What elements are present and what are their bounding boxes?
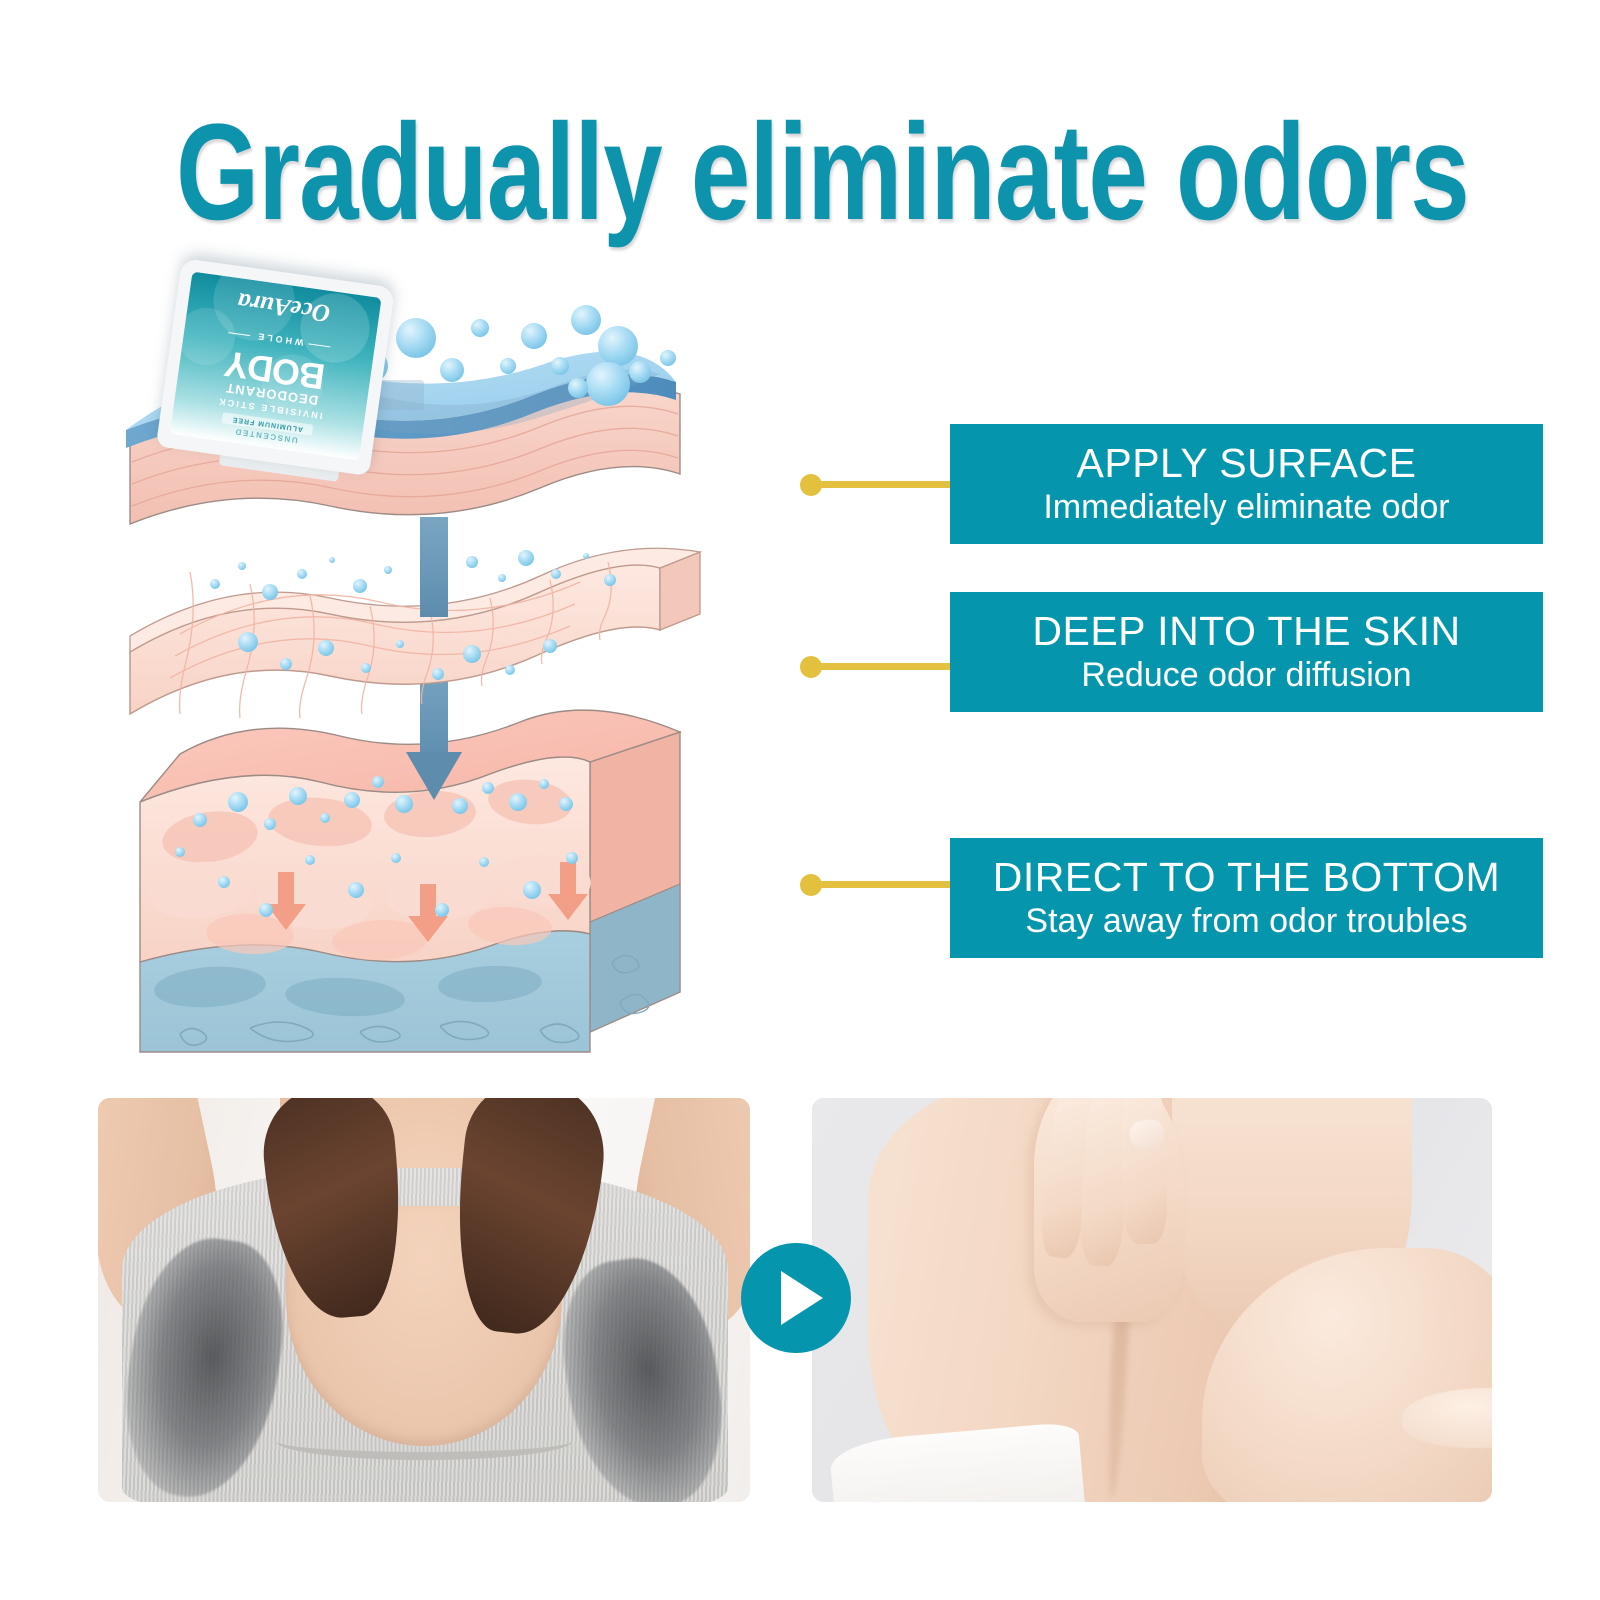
callout-leader-2 [815, 663, 953, 670]
package-label: UNSCENTED ALUMINUM FREE INVISIBLE STICK … [170, 272, 382, 461]
callout-title-2: DEEP INTO THE SKIN [1032, 610, 1460, 653]
photo-before[interactable] [98, 1098, 750, 1502]
callout-subtitle-1: Immediately eliminate odor [1043, 489, 1449, 526]
callout-box-deep-into-skin[interactable]: DEEP INTO THE SKIN Reduce odor diffusion [950, 592, 1543, 712]
callout-title-1: APPLY SURFACE [1077, 442, 1417, 485]
subcutaneous-block-layer [140, 710, 680, 1052]
page-title: Gradually eliminate odors [176, 104, 1424, 241]
play-button[interactable] [741, 1243, 851, 1353]
dermis-mesh-layer [130, 548, 700, 718]
product-package: UNSCENTED ALUMINUM FREE INVISIBLE STICK … [156, 258, 395, 476]
photo-after[interactable] [812, 1098, 1492, 1502]
callout-box-apply-surface[interactable]: APPLY SURFACE Immediately eliminate odor [950, 424, 1543, 544]
callout-title-3: DIRECT TO THE BOTTOM [993, 856, 1500, 899]
callout-subtitle-3: Stay away from odor troubles [1025, 903, 1467, 940]
callout-box-direct-to-bottom[interactable]: DIRECT TO THE BOTTOM Stay away from odor… [950, 838, 1543, 958]
callout-subtitle-2: Reduce odor diffusion [1081, 657, 1411, 694]
callout-leader-1 [815, 481, 953, 488]
penetration-stem [420, 517, 448, 617]
play-icon [781, 1271, 823, 1325]
package-body: UNSCENTED ALUMINUM FREE INVISIBLE STICK … [156, 258, 395, 476]
callout-leader-3 [815, 881, 953, 888]
